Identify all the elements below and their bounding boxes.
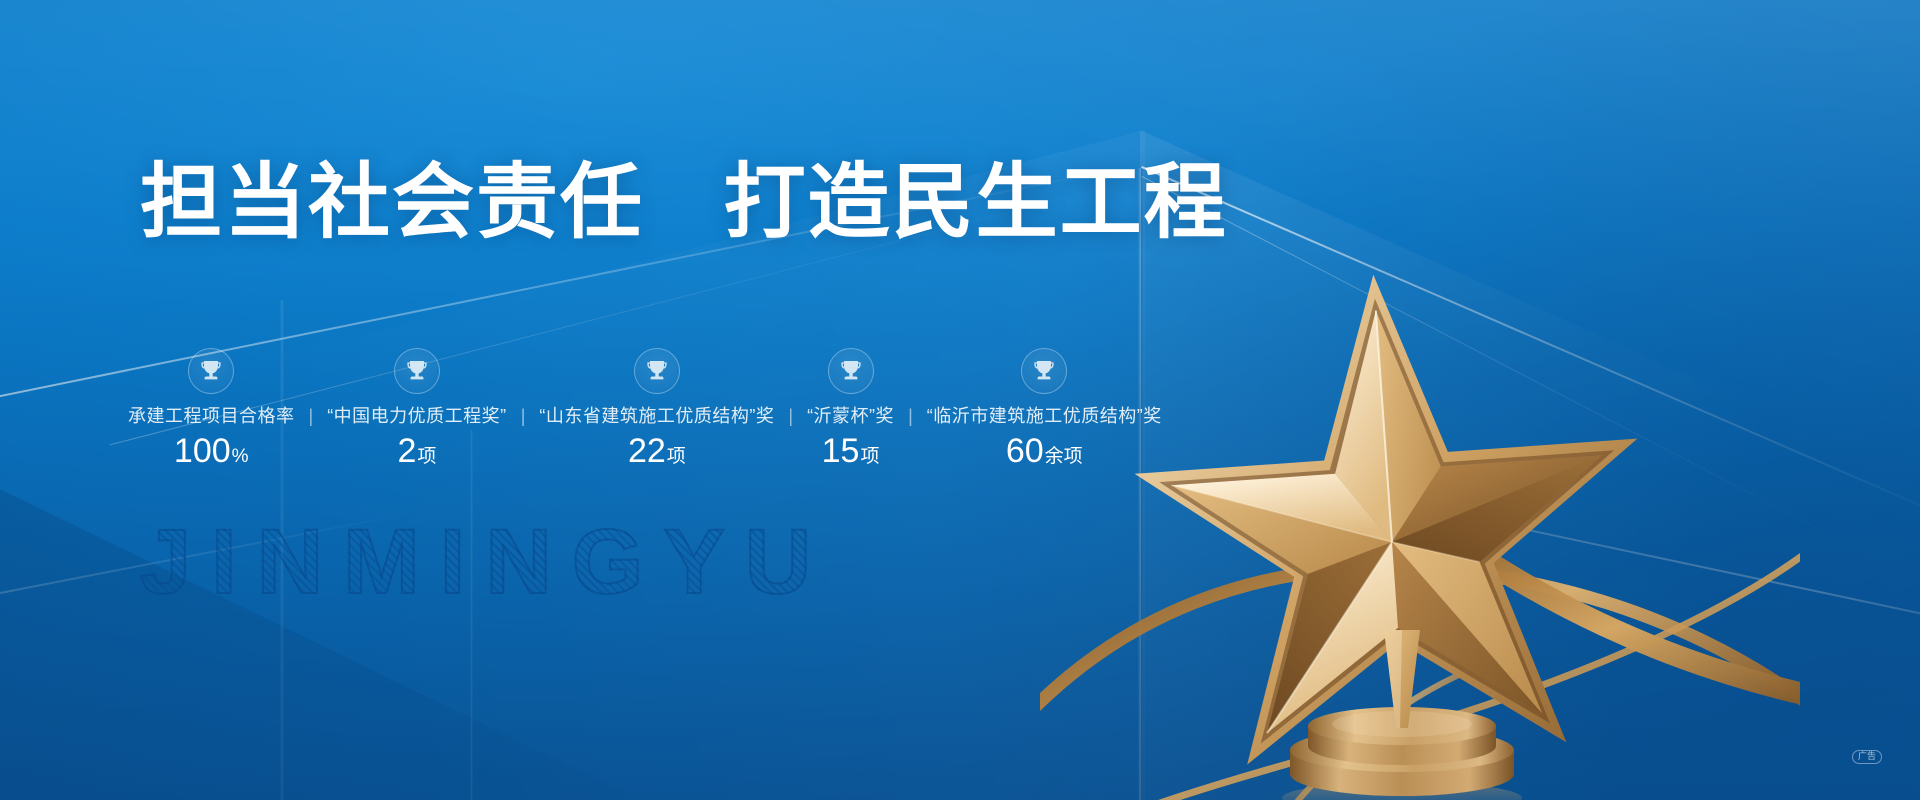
stat-number: 100 xyxy=(174,432,231,470)
stat-unit: 项 xyxy=(417,446,436,467)
stat-divider: | xyxy=(894,406,927,428)
stat-value: 15项 xyxy=(822,434,880,468)
stat-value: 22项 xyxy=(628,434,686,468)
stat-item: “沂蒙杯”奖 15项 xyxy=(807,348,894,468)
stat-item: “中国电力优质工程奖” 2项 xyxy=(327,348,507,468)
ad-badge: 广告 xyxy=(1852,750,1882,764)
gold-star-trophy-image xyxy=(1040,250,1800,800)
stat-item: “山东省建筑施工优质结构”奖 22项 xyxy=(539,348,774,468)
promo-banner: JINMINGYU 担当社会责任 打造民生工程 承建工程项目合格率 100% | xyxy=(0,0,1920,800)
stat-label: 承建工程项目合格率 xyxy=(128,406,295,428)
stat-number: 22 xyxy=(628,432,666,470)
trophy-icon xyxy=(394,348,440,394)
stat-divider: | xyxy=(507,406,540,428)
headline-part-1: 担当社会责任 xyxy=(140,157,644,248)
trophy-icon xyxy=(188,348,234,394)
trophy-icon xyxy=(634,348,680,394)
achievement-stats-row: 承建工程项目合格率 100% | “中国电力优质工程奖” 2项 | xyxy=(128,348,1162,468)
stat-label: “中国电力优质工程奖” xyxy=(327,406,507,428)
brand-watermark: JINMINGYU xyxy=(140,516,831,608)
stat-item: 承建工程项目合格率 100% xyxy=(128,348,295,468)
stat-value: 100% xyxy=(174,434,249,468)
stat-divider: | xyxy=(774,406,807,428)
stat-number: 2 xyxy=(397,432,416,470)
stat-divider: | xyxy=(295,406,328,428)
stat-label: “山东省建筑施工优质结构”奖 xyxy=(539,406,774,428)
headline-part-2: 打造民生工程 xyxy=(724,157,1228,248)
stat-value: 2项 xyxy=(397,434,436,468)
stat-unit: 项 xyxy=(860,446,879,467)
trophy-icon xyxy=(828,348,874,394)
stat-unit: 项 xyxy=(667,446,686,467)
stat-unit: % xyxy=(232,446,249,467)
stat-label: “沂蒙杯”奖 xyxy=(807,406,894,428)
page-title: 担当社会责任 打造民生工程 xyxy=(140,158,1228,248)
stat-number: 60 xyxy=(1006,432,1044,470)
stat-number: 15 xyxy=(822,432,860,470)
